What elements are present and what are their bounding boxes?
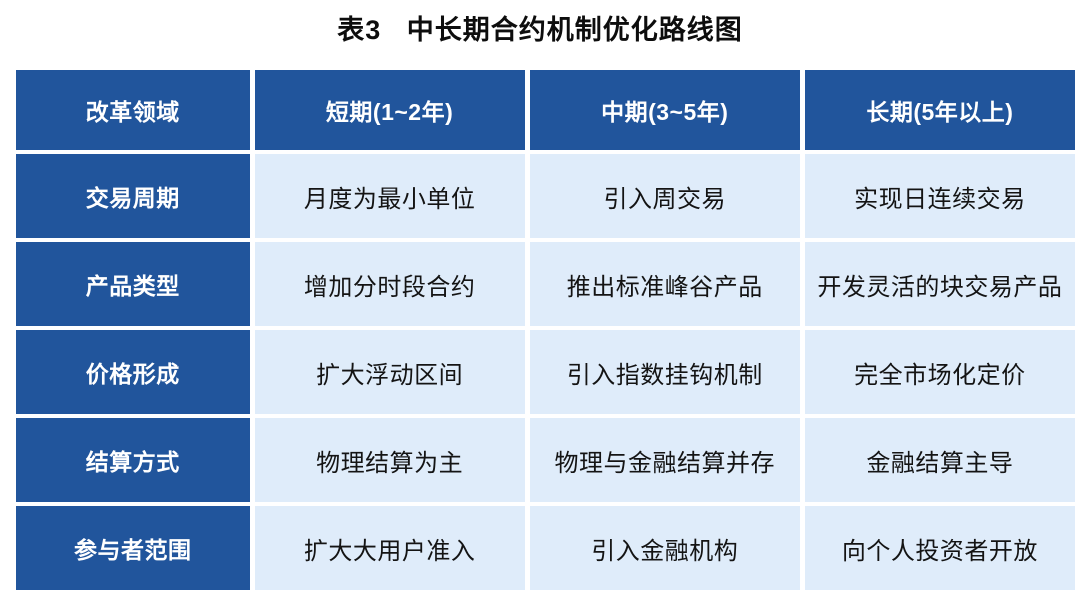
row-header-settlement-method: 结算方式: [16, 418, 250, 502]
cell-price-formation-short: 扩大浮动区间: [255, 330, 525, 414]
table-row: 价格形成 扩大浮动区间 引入指数挂钩机制 完全市场化定价: [16, 330, 1075, 414]
cell-participant-scope-short: 扩大大用户准入: [255, 506, 525, 590]
cell-settlement-method-medium: 物理与金融结算并存: [530, 418, 800, 502]
column-header-reform-domain: 改革领域: [16, 70, 250, 150]
table-row: 交易周期 月度为最小单位 引入周交易 实现日连续交易: [16, 154, 1075, 238]
cell-trading-cycle-long: 实现日连续交易: [805, 154, 1075, 238]
cell-settlement-method-long: 金融结算主导: [805, 418, 1075, 502]
cell-product-type-long: 开发灵活的块交易产品: [805, 242, 1075, 326]
column-header-medium-term: 中期(3~5年): [530, 70, 800, 150]
cell-price-formation-medium: 引入指数挂钩机制: [530, 330, 800, 414]
table-row: 产品类型 增加分时段合约 推出标准峰谷产品 开发灵活的块交易产品: [16, 242, 1075, 326]
table-figure-page: 表3 中长期合约机制优化路线图 改革领域 短期(1~2年) 中期(3~5年) 长…: [0, 0, 1080, 603]
column-header-long-term: 长期(5年以上): [805, 70, 1075, 150]
row-header-product-type: 产品类型: [16, 242, 250, 326]
table-row: 参与者范围 扩大大用户准入 引入金融机构 向个人投资者开放: [16, 506, 1075, 590]
table-title: 表3 中长期合约机制优化路线图: [0, 8, 1080, 47]
cell-trading-cycle-short: 月度为最小单位: [255, 154, 525, 238]
cell-product-type-medium: 推出标准峰谷产品: [530, 242, 800, 326]
cell-price-formation-long: 完全市场化定价: [805, 330, 1075, 414]
row-header-price-formation: 价格形成: [16, 330, 250, 414]
column-header-short-term: 短期(1~2年): [255, 70, 525, 150]
cell-settlement-method-short: 物理结算为主: [255, 418, 525, 502]
row-header-participant-scope: 参与者范围: [16, 506, 250, 590]
cell-participant-scope-medium: 引入金融机构: [530, 506, 800, 590]
cell-participant-scope-long: 向个人投资者开放: [805, 506, 1075, 590]
table-header-row: 改革领域 短期(1~2年) 中期(3~5年) 长期(5年以上): [16, 70, 1075, 150]
table-row: 结算方式 物理结算为主 物理与金融结算并存 金融结算主导: [16, 418, 1075, 502]
row-header-trading-cycle: 交易周期: [16, 154, 250, 238]
cell-trading-cycle-medium: 引入周交易: [530, 154, 800, 238]
cell-product-type-short: 增加分时段合约: [255, 242, 525, 326]
contract-mechanism-roadmap-table: 改革领域 短期(1~2年) 中期(3~5年) 长期(5年以上) 交易周期 月度为…: [11, 66, 1080, 594]
